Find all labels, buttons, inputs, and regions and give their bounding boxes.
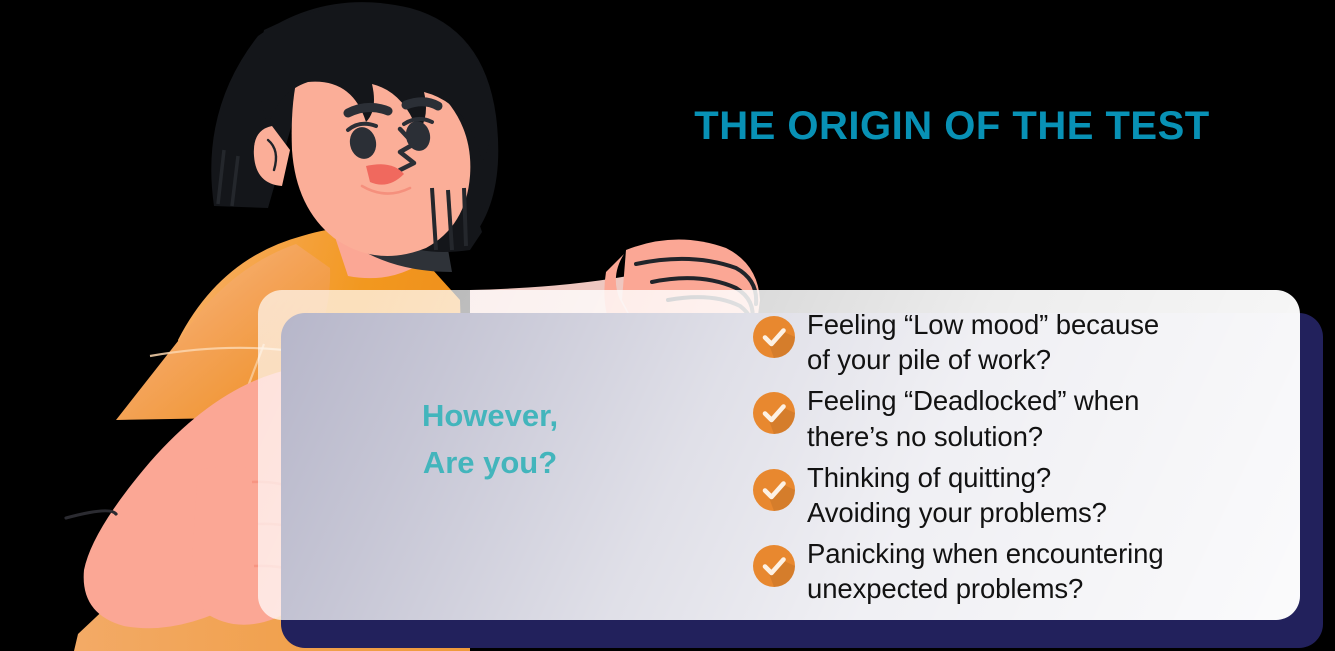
list-item-text: Thinking of quitting? Avoiding your prob… bbox=[796, 458, 1297, 530]
poster-canvas: THE ORIGIN OF THE TEST However, Are you?… bbox=[0, 0, 1335, 651]
page-title: THE ORIGIN OF THE TEST bbox=[612, 104, 1292, 148]
however-line-2: Are you? bbox=[330, 439, 650, 486]
list-item-line-1: Thinking of quitting? bbox=[807, 460, 1297, 495]
check-circle-icon bbox=[752, 544, 796, 588]
check-circle-icon bbox=[752, 315, 796, 359]
hair-strand-3 bbox=[464, 188, 466, 246]
list-item: Feeling “Low mood” because of your pile … bbox=[752, 305, 1297, 377]
symptom-checklist: Feeling “Low mood” because of your pile … bbox=[752, 305, 1297, 611]
list-item-line-1: Panicking when encountering bbox=[807, 536, 1297, 571]
list-item-line-2: unexpected problems? bbox=[807, 571, 1297, 606]
list-item: Thinking of quitting? Avoiding your prob… bbox=[752, 458, 1297, 530]
check-circle-icon bbox=[752, 468, 796, 512]
eyebrow-right bbox=[406, 102, 438, 106]
list-item-text: Feeling “Low mood” because of your pile … bbox=[796, 305, 1297, 377]
however-line-1: However, bbox=[330, 392, 650, 439]
list-item-line-2: there’s no solution? bbox=[807, 419, 1297, 454]
list-item-line-1: Feeling “Deadlocked” when bbox=[807, 383, 1297, 418]
list-item-line-2: of your pile of work? bbox=[807, 342, 1297, 377]
list-item: Feeling “Deadlocked” when there’s no sol… bbox=[752, 381, 1297, 453]
however-are-you-block: However, Are you? bbox=[330, 392, 650, 486]
list-item-line-2: Avoiding your problems? bbox=[807, 495, 1297, 530]
list-item-text: Panicking when encountering unexpected p… bbox=[796, 534, 1297, 606]
check-circle-icon bbox=[752, 391, 796, 435]
list-item: Panicking when encountering unexpected p… bbox=[752, 534, 1297, 606]
list-item-line-1: Feeling “Low mood” because bbox=[807, 307, 1297, 342]
list-item-text: Feeling “Deadlocked” when there’s no sol… bbox=[796, 381, 1297, 453]
